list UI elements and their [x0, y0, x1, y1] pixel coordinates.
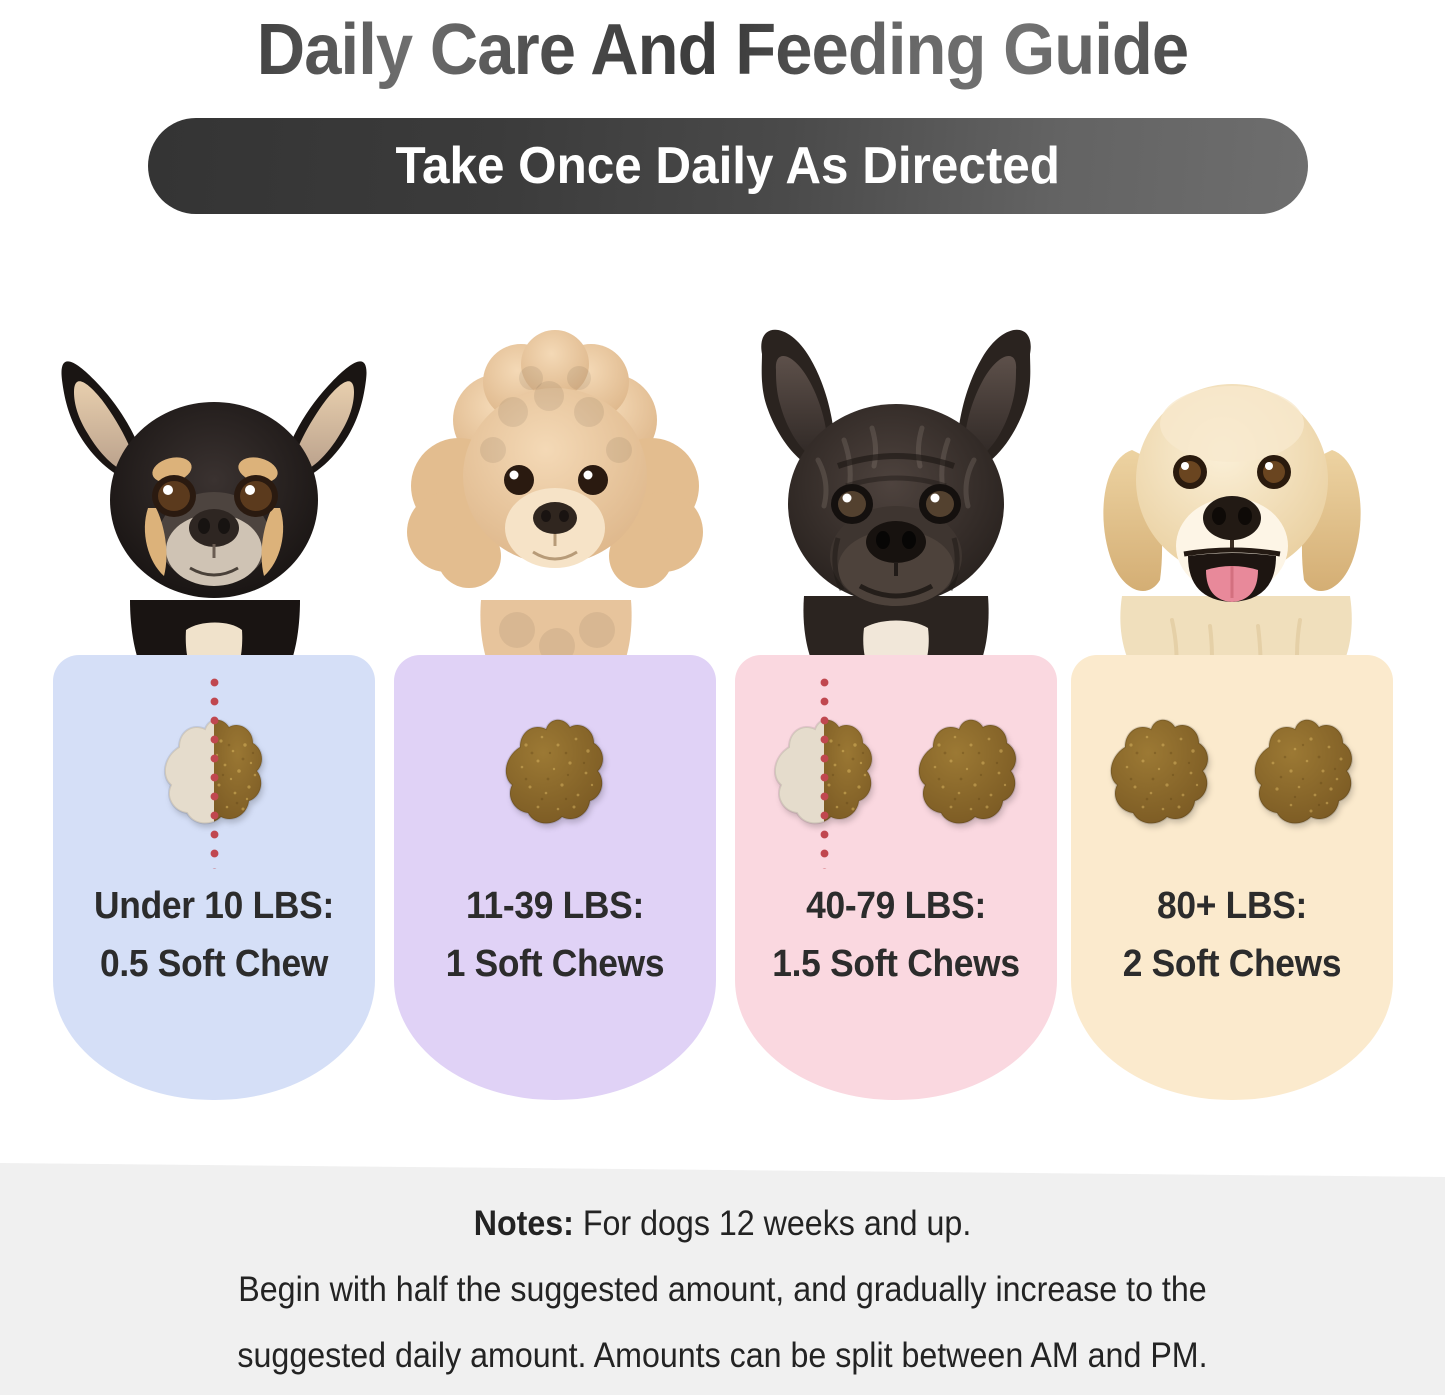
dose-amount-label: 2 Soft Chews [1082, 935, 1381, 993]
chew-card-body: 40-79 LBS: 1.5 Soft Chews [735, 655, 1057, 1100]
weight-range-label: 11-39 LBS: [466, 885, 644, 927]
weight-range-label: 80+ LBS: [1157, 885, 1307, 927]
weight-range-label: Under 10 LBS: [94, 885, 334, 927]
dosage-card-80-plus-lbs: 80+ LBS: 2 Soft Chews [1062, 300, 1402, 1110]
notes-line-1: Notes: For dogs 12 weeks and up. [113, 1191, 1332, 1257]
dog-photo-french-bulldog [726, 300, 1066, 690]
cut-line-dotted [210, 673, 219, 869]
dose-amount-label: 1.5 Soft Chews [746, 935, 1045, 993]
chew-card-body: Under 10 LBS: 0.5 Soft Chew [53, 655, 375, 1100]
dosage-card-40-79-lbs: 40-79 LBS: 1.5 Soft Chews [726, 300, 1066, 1110]
dosage-card-under-10-lbs: Under 10 LBS: 0.5 Soft Chew [44, 300, 384, 1110]
dose-amount-label: 1 Soft Chews [405, 935, 704, 993]
chew-card-body: 11-39 LBS: 1 Soft Chews [394, 655, 716, 1100]
dosage-label: 80+ LBS: 2 Soft Chews [1082, 877, 1381, 993]
notes-text: Notes: For dogs 12 weeks and up. Begin w… [113, 1191, 1332, 1389]
cut-line-dotted [820, 673, 829, 869]
chew-illustration-group [53, 701, 375, 841]
dosage-label: 11-39 LBS: 1 Soft Chews [405, 877, 704, 993]
chew-full [496, 709, 614, 833]
chew-half [155, 709, 273, 833]
chew-illustration-group [735, 701, 1057, 841]
notes-heading: Notes: [474, 1204, 574, 1243]
notes-panel: Notes: For dogs 12 weeks and up. Begin w… [0, 1155, 1445, 1395]
dosage-label: Under 10 LBS: 0.5 Soft Chew [64, 877, 363, 993]
subtitle-text: Take Once Daily As Directed [396, 136, 1060, 196]
chew-illustration-group [1071, 701, 1393, 841]
chew-full [1101, 709, 1219, 833]
dosage-label: 40-79 LBS: 1.5 Soft Chews [746, 877, 1045, 993]
chew-full [909, 709, 1027, 833]
notes-line-1-text: For dogs 12 weeks and up. [583, 1204, 971, 1243]
dog-photo-chihuahua [44, 300, 384, 690]
subtitle-banner: Take Once Daily As Directed [148, 118, 1308, 214]
notes-line-3: suggested daily amount. Amounts can be s… [113, 1323, 1332, 1389]
dose-amount-label: 0.5 Soft Chew [64, 935, 363, 993]
chew-half [765, 709, 883, 833]
dog-photo-poodle [385, 300, 725, 690]
weight-range-label: 40-79 LBS: [806, 885, 986, 927]
chew-full [1245, 709, 1363, 833]
chew-illustration-group [394, 701, 716, 841]
dosage-card-11-39-lbs: 11-39 LBS: 1 Soft Chews [385, 300, 725, 1110]
notes-line-2: Begin with half the suggested amount, an… [113, 1257, 1332, 1323]
chew-card-body: 80+ LBS: 2 Soft Chews [1071, 655, 1393, 1100]
dog-photo-golden-retriever [1062, 300, 1402, 690]
page-title: Daily Care And Feeding Guide [51, 4, 1395, 96]
